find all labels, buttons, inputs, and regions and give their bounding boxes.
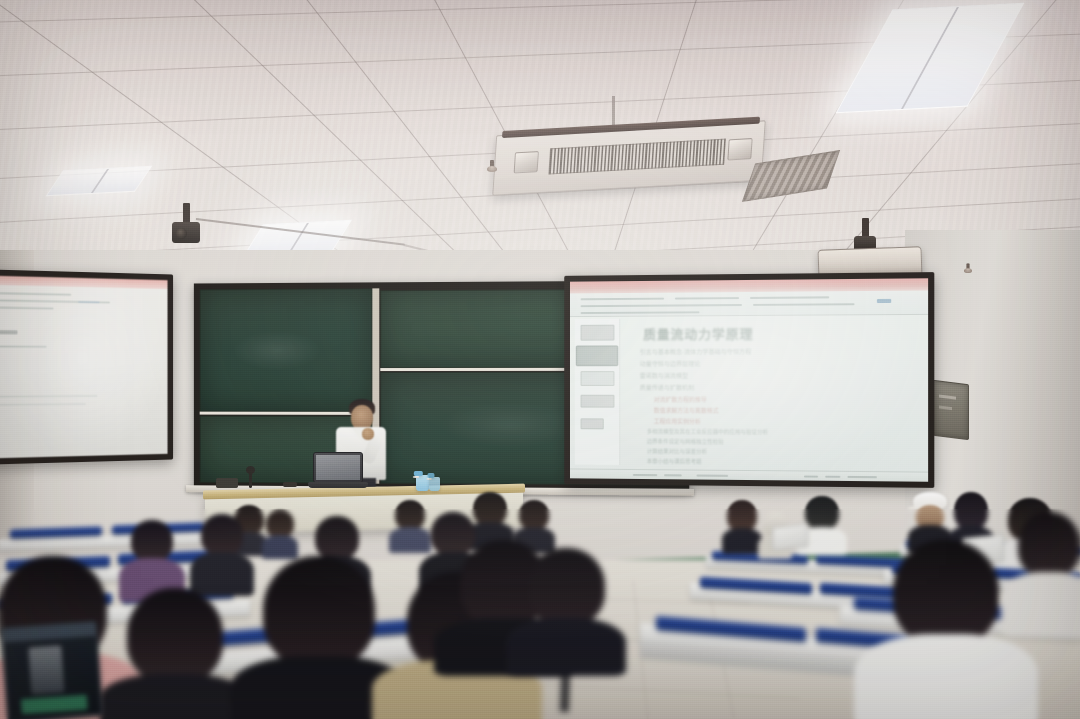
student-head — [527, 548, 605, 626]
student-front-left-3 — [256, 556, 382, 719]
secondary-projection-screen — [0, 269, 173, 464]
student-body — [722, 528, 762, 554]
slide-bullet: 质量传递与扩散机制 — [640, 383, 695, 392]
slide-bullet: 计算结果对比与误差分析 — [647, 447, 707, 455]
student-head — [1018, 512, 1080, 578]
slide-bullet: 数值求解方法与离散格式 — [654, 406, 719, 415]
podium-laptop-base — [308, 482, 368, 488]
student-head — [395, 500, 425, 530]
student-head — [127, 588, 223, 684]
student-body — [506, 618, 626, 676]
student-mid-left-1 — [126, 520, 178, 598]
slide-thumbnail[interactable] — [577, 347, 618, 366]
podium-cable — [283, 482, 297, 487]
student-head — [201, 514, 243, 556]
water-bottle-second[interactable] — [429, 477, 440, 491]
lecturer-hand — [362, 428, 374, 440]
student — [724, 500, 760, 552]
student-head — [266, 510, 294, 538]
lecture-hall-photo: 质量流动力学原理 引言与基本概念·流体力学基础与守恒方程 动量守恒与边界层理论 … — [0, 0, 1080, 719]
dome-speaker-right — [964, 263, 972, 274]
student-right-edge — [1014, 512, 1080, 632]
student-mid-left-2 — [196, 514, 248, 590]
slide-bullet: 动量守恒与边界层理论 — [640, 359, 701, 368]
student-head — [315, 516, 359, 560]
sprinkler-front — [487, 160, 497, 174]
student-tablet[interactable] — [1, 621, 103, 719]
student-body — [389, 527, 431, 553]
student-back-right — [880, 540, 1012, 719]
student-laptop-back[interactable] — [772, 523, 808, 551]
podium-microphone-head — [246, 466, 255, 474]
student-front-left-2 — [120, 588, 230, 719]
slide-bullet: 工程应用实例分析 — [654, 417, 701, 426]
student-body — [100, 674, 250, 719]
student-center-3 — [520, 548, 612, 674]
student — [264, 510, 296, 554]
slide-bullet: 边界条件设定与网格独立性检验 — [647, 437, 724, 445]
camera-lens-icon — [176, 228, 187, 239]
slide-title: 质量流动力学原理 — [643, 324, 753, 343]
student-head — [131, 520, 173, 562]
slide-thumbnail[interactable] — [580, 325, 614, 341]
wall-control-panel[interactable] — [933, 380, 969, 440]
slide-bullet: 本章小结与课后思考题 — [647, 457, 702, 465]
slide-thumbnail-panel[interactable] — [575, 319, 620, 465]
student-head — [263, 556, 375, 668]
student — [802, 496, 842, 552]
slide-bullet: 对流扩散方程的推导 — [654, 395, 707, 404]
student — [392, 500, 428, 550]
slide-thumbnail[interactable] — [580, 371, 614, 386]
student-head — [954, 492, 988, 530]
podium-controls[interactable] — [216, 478, 238, 488]
student-head — [519, 500, 549, 530]
podium-laptop[interactable] — [313, 452, 363, 483]
student-head — [805, 496, 839, 530]
slide-bullet: 引言与基本概念·流体力学基础与守恒方程 — [640, 347, 752, 356]
main-projection-screen: 质量流动力学原理 引言与基本概念·流体力学基础与守恒方程 动量守恒与边界层理论 … — [564, 272, 934, 488]
student-head — [893, 540, 999, 646]
slide-bullet: 雷诺数与湍流模型 — [640, 371, 688, 380]
slide-thumbnail[interactable] — [580, 395, 614, 408]
slide-bullet: 多相流模型及其在工业反应器中的应用与验证分析 — [647, 428, 768, 437]
student-body — [854, 634, 1038, 719]
slide-thumbnail[interactable] — [580, 418, 603, 430]
student-body — [1001, 572, 1080, 636]
presentation-status-bar — [570, 468, 928, 481]
